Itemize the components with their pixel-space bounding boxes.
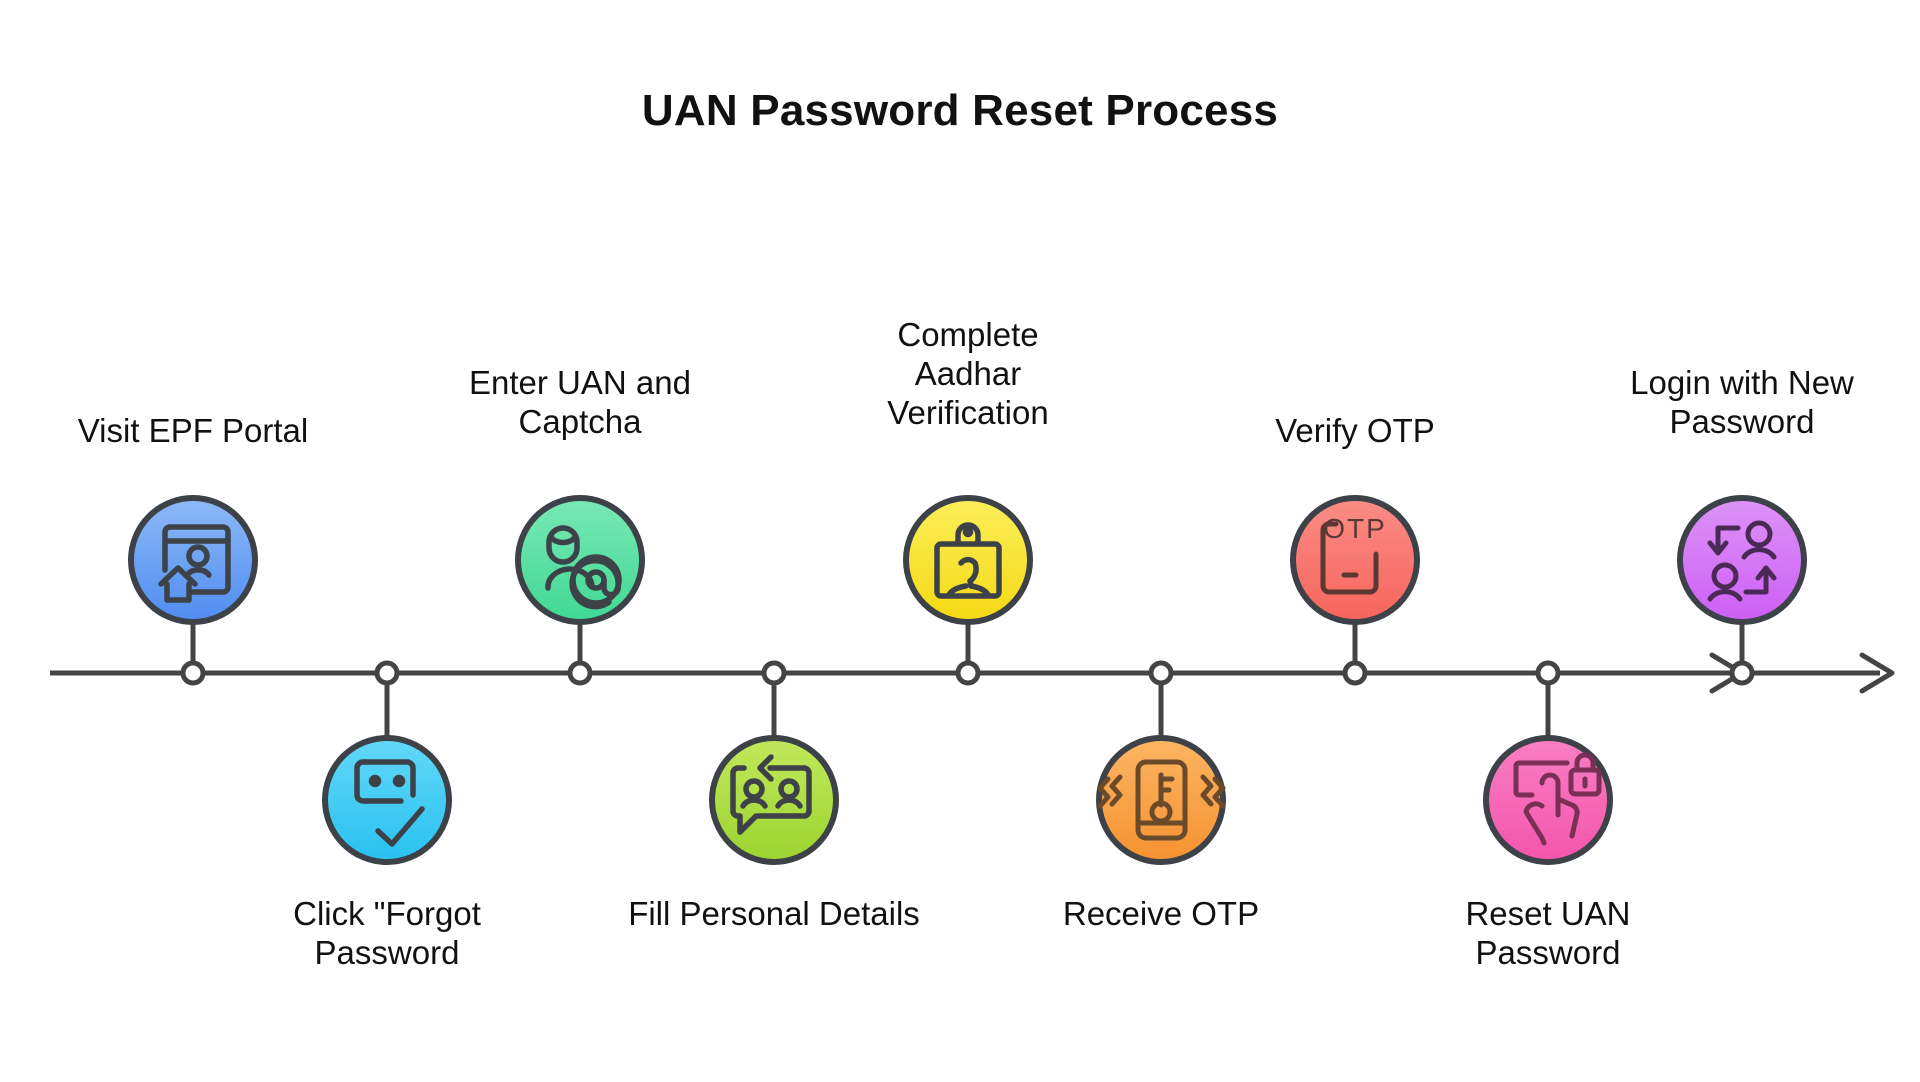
axis-marker-9[interactable]: [1732, 663, 1752, 683]
axis-marker-4[interactable]: [764, 663, 784, 683]
step-label-5: Complete Aadhar Verification: [843, 316, 1093, 433]
step-label-2: Click "Forgot Password: [237, 895, 537, 973]
axis-marker-8[interactable]: [1538, 663, 1558, 683]
step-node-9[interactable]: [1680, 498, 1804, 683]
step-node-1[interactable]: [131, 498, 255, 683]
axis-marker-1[interactable]: [183, 663, 203, 683]
step-node-6[interactable]: [1099, 663, 1223, 862]
step-node-2[interactable]: [325, 663, 449, 862]
axis-marker-5[interactable]: [958, 663, 978, 683]
step-node-7[interactable]: OTP: [1293, 498, 1417, 683]
axis-marker-3[interactable]: [570, 663, 590, 683]
step-node-5[interactable]: [906, 498, 1030, 683]
step-label-1: Visit EPF Portal: [43, 412, 343, 451]
step-node-4[interactable]: [712, 663, 836, 862]
svg-text:OTP: OTP: [1323, 513, 1387, 544]
step-label-4: Fill Personal Details: [624, 895, 924, 934]
step-label-8: Reset UAN Password: [1398, 895, 1698, 973]
step-label-7: Verify OTP: [1205, 412, 1505, 451]
step-circle-9[interactable]: [1680, 498, 1804, 622]
step-node-8[interactable]: [1486, 663, 1610, 862]
step-node-3[interactable]: [518, 498, 642, 683]
axis-marker-7[interactable]: [1345, 663, 1365, 683]
step-label-3: Enter UAN and Captcha: [430, 364, 730, 442]
timeline-diagram: UAN Password Reset Process: [0, 0, 1920, 1082]
axis-marker-2[interactable]: [377, 663, 397, 683]
axis-marker-6[interactable]: [1151, 663, 1171, 683]
step-label-6: Receive OTP: [1011, 895, 1311, 934]
step-label-9: Login with New Password: [1592, 364, 1892, 442]
